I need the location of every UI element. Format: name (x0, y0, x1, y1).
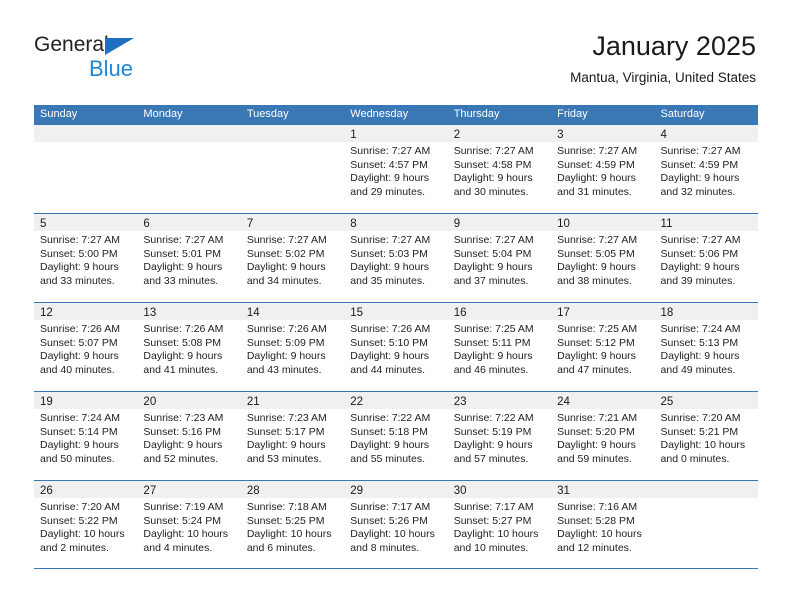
daylight-duration-line1: Daylight: 9 hours (350, 172, 441, 186)
daylight-duration-line1: Daylight: 9 hours (557, 439, 648, 453)
calendar-day-cell[interactable]: 26Sunrise: 7:20 AMSunset: 5:22 PMDayligh… (34, 481, 137, 568)
day-number: 21 (247, 396, 260, 408)
calendar-week-row: 5Sunrise: 7:27 AMSunset: 5:00 PMDaylight… (34, 213, 758, 302)
day-number-band: 15 (344, 303, 447, 320)
sunrise-time: Sunrise: 7:27 AM (247, 234, 338, 248)
sunset-time: Sunset: 5:25 PM (247, 515, 338, 529)
daylight-duration-line1: Daylight: 9 hours (454, 261, 545, 275)
daylight-duration-line1: Daylight: 10 hours (143, 528, 234, 542)
daylight-duration-line2: and 2 minutes. (40, 542, 131, 556)
day-number: 7 (247, 218, 253, 230)
sunset-time: Sunset: 5:02 PM (247, 248, 338, 262)
sunrise-time: Sunrise: 7:19 AM (143, 501, 234, 515)
day-number: 25 (661, 396, 674, 408)
day-number-band: 18 (655, 303, 758, 320)
sunrise-time: Sunrise: 7:27 AM (350, 145, 441, 159)
sunset-time: Sunset: 5:24 PM (143, 515, 234, 529)
day-number-band: 16 (448, 303, 551, 320)
sunset-time: Sunset: 5:04 PM (454, 248, 545, 262)
daylight-duration-line1: Daylight: 9 hours (143, 350, 234, 364)
daylight-duration-line1: Daylight: 10 hours (454, 528, 545, 542)
day-details: Sunrise: 7:25 AMSunset: 5:12 PMDaylight:… (551, 320, 654, 377)
calendar-day-cell[interactable]: 30Sunrise: 7:17 AMSunset: 5:27 PMDayligh… (448, 481, 551, 568)
day-number-band: 10 (551, 214, 654, 231)
calendar-day-cell[interactable]: 15Sunrise: 7:26 AMSunset: 5:10 PMDayligh… (344, 303, 447, 391)
weekday-header-thursday: Thursday (448, 105, 551, 124)
daylight-duration-line2: and 32 minutes. (661, 186, 752, 200)
daylight-duration-line1: Daylight: 9 hours (454, 172, 545, 186)
day-details: Sunrise: 7:26 AMSunset: 5:07 PMDaylight:… (34, 320, 137, 377)
daylight-duration-line1: Daylight: 9 hours (454, 439, 545, 453)
sunset-time: Sunset: 4:58 PM (454, 159, 545, 173)
sunrise-time: Sunrise: 7:23 AM (143, 412, 234, 426)
sunset-time: Sunset: 4:59 PM (661, 159, 752, 173)
sunrise-time: Sunrise: 7:18 AM (247, 501, 338, 515)
day-number: 6 (143, 218, 149, 230)
sunset-time: Sunset: 5:18 PM (350, 426, 441, 440)
daylight-duration-line2: and 40 minutes. (40, 364, 131, 378)
sunset-time: Sunset: 5:06 PM (661, 248, 752, 262)
day-number-band: 24 (551, 392, 654, 409)
daylight-duration-line1: Daylight: 9 hours (350, 261, 441, 275)
daylight-duration-line2: and 44 minutes. (350, 364, 441, 378)
calendar-day-cell[interactable]: 5Sunrise: 7:27 AMSunset: 5:00 PMDaylight… (34, 214, 137, 302)
sunrise-time: Sunrise: 7:22 AM (454, 412, 545, 426)
weekday-header-sunday: Sunday (34, 105, 137, 124)
day-number-band: 28 (241, 481, 344, 498)
daylight-duration-line2: and 12 minutes. (557, 542, 648, 556)
daylight-duration-line2: and 4 minutes. (143, 542, 234, 556)
logo-flag-icon (105, 38, 134, 55)
day-details: Sunrise: 7:21 AMSunset: 5:20 PMDaylight:… (551, 409, 654, 466)
sunrise-time: Sunrise: 7:26 AM (350, 323, 441, 337)
daylight-duration-line2: and 10 minutes. (454, 542, 545, 556)
day-number: 5 (40, 218, 46, 230)
day-number: 18 (661, 307, 674, 319)
day-number-band: 22 (344, 392, 447, 409)
day-number: 30 (454, 485, 467, 497)
sunset-time: Sunset: 5:19 PM (454, 426, 545, 440)
daylight-duration-line2: and 8 minutes. (350, 542, 441, 556)
sunrise-time: Sunrise: 7:17 AM (350, 501, 441, 515)
sunset-time: Sunset: 5:08 PM (143, 337, 234, 351)
calendar-day-cell[interactable]: 14Sunrise: 7:26 AMSunset: 5:09 PMDayligh… (241, 303, 344, 391)
calendar-week-row: 26Sunrise: 7:20 AMSunset: 5:22 PMDayligh… (34, 480, 758, 569)
daylight-duration-line1: Daylight: 9 hours (247, 350, 338, 364)
daylight-duration-line1: Daylight: 9 hours (143, 439, 234, 453)
day-number-band: 13 (137, 303, 240, 320)
daylight-duration-line1: Daylight: 9 hours (557, 350, 648, 364)
calendar-day-cell[interactable]: 7Sunrise: 7:27 AMSunset: 5:02 PMDaylight… (241, 214, 344, 302)
daylight-duration-line2: and 41 minutes. (143, 364, 234, 378)
sunset-time: Sunset: 5:03 PM (350, 248, 441, 262)
calendar-day-cell[interactable]: 8Sunrise: 7:27 AMSunset: 5:03 PMDaylight… (344, 214, 447, 302)
weekday-header-monday: Monday (137, 105, 240, 124)
sunset-time: Sunset: 5:20 PM (557, 426, 648, 440)
page-subtitle-location: Mantua, Virginia, United States (570, 69, 756, 87)
day-number-band: 12 (34, 303, 137, 320)
daylight-duration-line2: and 46 minutes. (454, 364, 545, 378)
calendar-day-cell[interactable]: 29Sunrise: 7:17 AMSunset: 5:26 PMDayligh… (344, 481, 447, 568)
day-number-band: 17 (551, 303, 654, 320)
day-details: Sunrise: 7:18 AMSunset: 5:25 PMDaylight:… (241, 498, 344, 555)
sunset-time: Sunset: 5:28 PM (557, 515, 648, 529)
daylight-duration-line1: Daylight: 9 hours (557, 172, 648, 186)
calendar-day-cell[interactable]: 22Sunrise: 7:22 AMSunset: 5:18 PMDayligh… (344, 392, 447, 480)
day-details: Sunrise: 7:27 AMSunset: 4:57 PMDaylight:… (344, 142, 447, 199)
day-number: 23 (454, 396, 467, 408)
daylight-duration-line2: and 55 minutes. (350, 453, 441, 467)
weekday-header-friday: Friday (551, 105, 654, 124)
day-details: Sunrise: 7:26 AMSunset: 5:09 PMDaylight:… (241, 320, 344, 377)
day-number: 28 (247, 485, 260, 497)
daylight-duration-line2: and 53 minutes. (247, 453, 338, 467)
sunset-time: Sunset: 5:00 PM (40, 248, 131, 262)
day-details: Sunrise: 7:27 AMSunset: 4:59 PMDaylight:… (551, 142, 654, 199)
daylight-duration-line1: Daylight: 9 hours (40, 439, 131, 453)
calendar-day-cell[interactable]: 2Sunrise: 7:27 AMSunset: 4:58 PMDaylight… (448, 125, 551, 213)
sunrise-time: Sunrise: 7:24 AM (661, 323, 752, 337)
sunrise-time: Sunrise: 7:27 AM (143, 234, 234, 248)
day-number-band: 21 (241, 392, 344, 409)
calendar-day-cell[interactable]: 23Sunrise: 7:22 AMSunset: 5:19 PMDayligh… (448, 392, 551, 480)
sunrise-time: Sunrise: 7:27 AM (557, 145, 648, 159)
sunset-time: Sunset: 5:16 PM (143, 426, 234, 440)
daylight-duration-line1: Daylight: 9 hours (247, 261, 338, 275)
day-number: 2 (454, 129, 460, 141)
day-number-band: 7 (241, 214, 344, 231)
day-number: 22 (350, 396, 363, 408)
day-details: Sunrise: 7:27 AMSunset: 4:58 PMDaylight:… (448, 142, 551, 199)
daylight-duration-line2: and 31 minutes. (557, 186, 648, 200)
day-details: Sunrise: 7:27 AMSunset: 5:00 PMDaylight:… (34, 231, 137, 288)
calendar-day-cell[interactable]: 1Sunrise: 7:27 AMSunset: 4:57 PMDaylight… (344, 125, 447, 213)
day-number: 8 (350, 218, 356, 230)
day-details: Sunrise: 7:27 AMSunset: 5:03 PMDaylight:… (344, 231, 447, 288)
calendar-weeks: 1Sunrise: 7:27 AMSunset: 4:57 PMDaylight… (34, 124, 758, 569)
calendar-day-cell[interactable]: 19Sunrise: 7:24 AMSunset: 5:14 PMDayligh… (34, 392, 137, 480)
daylight-duration-line2: and 30 minutes. (454, 186, 545, 200)
daylight-duration-line2: and 39 minutes. (661, 275, 752, 289)
sunset-time: Sunset: 5:14 PM (40, 426, 131, 440)
day-details: Sunrise: 7:19 AMSunset: 5:24 PMDaylight:… (137, 498, 240, 555)
day-details: Sunrise: 7:27 AMSunset: 4:59 PMDaylight:… (655, 142, 758, 199)
day-details: Sunrise: 7:17 AMSunset: 5:26 PMDaylight:… (344, 498, 447, 555)
calendar-day-cell[interactable]: 20Sunrise: 7:23 AMSunset: 5:16 PMDayligh… (137, 392, 240, 480)
page-title: January 2025 (570, 30, 756, 62)
sunrise-time: Sunrise: 7:27 AM (454, 145, 545, 159)
sunset-time: Sunset: 5:11 PM (454, 337, 545, 351)
calendar-week-row: 12Sunrise: 7:26 AMSunset: 5:07 PMDayligh… (34, 302, 758, 391)
sunset-time: Sunset: 5:07 PM (40, 337, 131, 351)
daylight-duration-line1: Daylight: 9 hours (143, 261, 234, 275)
daylight-duration-line2: and 52 minutes. (143, 453, 234, 467)
daylight-duration-line2: and 47 minutes. (557, 364, 648, 378)
calendar-day-cell[interactable]: 28Sunrise: 7:18 AMSunset: 5:25 PMDayligh… (241, 481, 344, 568)
sunset-time: Sunset: 5:12 PM (557, 337, 648, 351)
day-number: 14 (247, 307, 260, 319)
sunrise-time: Sunrise: 7:21 AM (557, 412, 648, 426)
day-number: 24 (557, 396, 570, 408)
day-number-band: 30 (448, 481, 551, 498)
sunrise-time: Sunrise: 7:26 AM (247, 323, 338, 337)
sunset-time: Sunset: 4:59 PM (557, 159, 648, 173)
sunset-time: Sunset: 4:57 PM (350, 159, 441, 173)
day-details: Sunrise: 7:26 AMSunset: 5:10 PMDaylight:… (344, 320, 447, 377)
daylight-duration-line2: and 6 minutes. (247, 542, 338, 556)
day-details: Sunrise: 7:27 AMSunset: 5:06 PMDaylight:… (655, 231, 758, 288)
calendar-page: General Blue January 2025 Mantua, Virgin… (0, 0, 792, 612)
daylight-duration-line1: Daylight: 9 hours (557, 261, 648, 275)
calendar-day-cell[interactable]: 11Sunrise: 7:27 AMSunset: 5:06 PMDayligh… (655, 214, 758, 302)
day-details: Sunrise: 7:20 AMSunset: 5:22 PMDaylight:… (34, 498, 137, 555)
daylight-duration-line1: Daylight: 10 hours (557, 528, 648, 542)
day-details: Sunrise: 7:27 AMSunset: 5:02 PMDaylight:… (241, 231, 344, 288)
day-details: Sunrise: 7:16 AMSunset: 5:28 PMDaylight:… (551, 498, 654, 555)
calendar-day-cell[interactable]: 21Sunrise: 7:23 AMSunset: 5:17 PMDayligh… (241, 392, 344, 480)
day-details: Sunrise: 7:27 AMSunset: 5:04 PMDaylight:… (448, 231, 551, 288)
weekday-header-wednesday: Wednesday (344, 105, 447, 124)
calendar-day-cell[interactable]: 13Sunrise: 7:26 AMSunset: 5:08 PMDayligh… (137, 303, 240, 391)
day-details: Sunrise: 7:17 AMSunset: 5:27 PMDaylight:… (448, 498, 551, 555)
sunrise-time: Sunrise: 7:16 AM (557, 501, 648, 515)
day-number: 16 (454, 307, 467, 319)
daylight-duration-line1: Daylight: 10 hours (247, 528, 338, 542)
calendar-day-cell[interactable]: 27Sunrise: 7:19 AMSunset: 5:24 PMDayligh… (137, 481, 240, 568)
sunrise-time: Sunrise: 7:17 AM (454, 501, 545, 515)
daylight-duration-line2: and 43 minutes. (247, 364, 338, 378)
daylight-duration-line1: Daylight: 10 hours (350, 528, 441, 542)
calendar-day-cell[interactable]: 25Sunrise: 7:20 AMSunset: 5:21 PMDayligh… (655, 392, 758, 480)
day-number-band: 14 (241, 303, 344, 320)
calendar-grid: Sunday Monday Tuesday Wednesday Thursday… (34, 105, 758, 569)
day-number: 27 (143, 485, 156, 497)
day-number: 9 (454, 218, 460, 230)
day-number-band: 31 (551, 481, 654, 498)
daylight-duration-line2: and 34 minutes. (247, 275, 338, 289)
weekday-header-tuesday: Tuesday (241, 105, 344, 124)
daylight-duration-line1: Daylight: 10 hours (661, 439, 752, 453)
sunrise-time: Sunrise: 7:27 AM (661, 145, 752, 159)
daylight-duration-line2: and 38 minutes. (557, 275, 648, 289)
day-details: Sunrise: 7:25 AMSunset: 5:11 PMDaylight:… (448, 320, 551, 377)
sunrise-time: Sunrise: 7:25 AM (454, 323, 545, 337)
daylight-duration-line2: and 33 minutes. (143, 275, 234, 289)
calendar-day-cell[interactable]: 31Sunrise: 7:16 AMSunset: 5:28 PMDayligh… (551, 481, 654, 568)
daylight-duration-line1: Daylight: 9 hours (40, 261, 131, 275)
daylight-duration-line2: and 59 minutes. (557, 453, 648, 467)
day-number-band: 4 (655, 125, 758, 142)
day-details: Sunrise: 7:27 AMSunset: 5:01 PMDaylight:… (137, 231, 240, 288)
sunrise-time: Sunrise: 7:27 AM (557, 234, 648, 248)
day-number: 20 (143, 396, 156, 408)
day-number-band: 5 (34, 214, 137, 231)
sunset-time: Sunset: 5:10 PM (350, 337, 441, 351)
sunset-time: Sunset: 5:17 PM (247, 426, 338, 440)
weekday-header-row: Sunday Monday Tuesday Wednesday Thursday… (34, 105, 758, 124)
sunrise-time: Sunrise: 7:25 AM (557, 323, 648, 337)
sunrise-time: Sunrise: 7:27 AM (661, 234, 752, 248)
general-blue-logo[interactable]: General Blue (34, 33, 234, 89)
day-number: 1 (350, 129, 356, 141)
daylight-duration-line1: Daylight: 9 hours (40, 350, 131, 364)
day-details: Sunrise: 7:22 AMSunset: 5:18 PMDaylight:… (344, 409, 447, 466)
sunrise-time: Sunrise: 7:20 AM (661, 412, 752, 426)
day-number-band: 25 (655, 392, 758, 409)
day-number-band: 26 (34, 481, 137, 498)
day-number-band: 20 (137, 392, 240, 409)
day-number: 17 (557, 307, 570, 319)
calendar-day-cell[interactable]: 4Sunrise: 7:27 AMSunset: 4:59 PMDaylight… (655, 125, 758, 213)
day-number: 31 (557, 485, 570, 497)
daylight-duration-line1: Daylight: 9 hours (350, 439, 441, 453)
day-number-band: 29 (344, 481, 447, 498)
day-details: Sunrise: 7:20 AMSunset: 5:21 PMDaylight:… (655, 409, 758, 466)
calendar-day-cell[interactable]: 9Sunrise: 7:27 AMSunset: 5:04 PMDaylight… (448, 214, 551, 302)
day-number: 29 (350, 485, 363, 497)
sunset-time: Sunset: 5:27 PM (454, 515, 545, 529)
day-number-band: 1 (344, 125, 447, 142)
daylight-duration-line2: and 0 minutes. (661, 453, 752, 467)
sunrise-time: Sunrise: 7:26 AM (40, 323, 131, 337)
sunrise-time: Sunrise: 7:27 AM (454, 234, 545, 248)
daylight-duration-line1: Daylight: 9 hours (661, 350, 752, 364)
day-details: Sunrise: 7:22 AMSunset: 5:19 PMDaylight:… (448, 409, 551, 466)
sunset-time: Sunset: 5:22 PM (40, 515, 131, 529)
day-details: Sunrise: 7:24 AMSunset: 5:13 PMDaylight:… (655, 320, 758, 377)
sunset-time: Sunset: 5:05 PM (557, 248, 648, 262)
calendar-day-cell[interactable]: 6Sunrise: 7:27 AMSunset: 5:01 PMDaylight… (137, 214, 240, 302)
day-details: Sunrise: 7:23 AMSunset: 5:16 PMDaylight:… (137, 409, 240, 466)
day-details: Sunrise: 7:23 AMSunset: 5:17 PMDaylight:… (241, 409, 344, 466)
daylight-duration-line1: Daylight: 9 hours (350, 350, 441, 364)
day-number-band (137, 125, 240, 142)
sunrise-time: Sunrise: 7:26 AM (143, 323, 234, 337)
calendar-week-row: 1Sunrise: 7:27 AMSunset: 4:57 PMDaylight… (34, 124, 758, 213)
day-number: 11 (661, 218, 673, 230)
day-number: 19 (40, 396, 53, 408)
day-number: 4 (661, 129, 667, 141)
sunrise-time: Sunrise: 7:22 AM (350, 412, 441, 426)
page-header: General Blue January 2025 Mantua, Virgin… (0, 0, 792, 100)
calendar-day-cell-empty (137, 125, 240, 213)
day-number-band: 8 (344, 214, 447, 231)
day-details: Sunrise: 7:27 AMSunset: 5:05 PMDaylight:… (551, 231, 654, 288)
calendar-day-cell[interactable]: 12Sunrise: 7:26 AMSunset: 5:07 PMDayligh… (34, 303, 137, 391)
day-number: 15 (350, 307, 363, 319)
daylight-duration-line1: Daylight: 9 hours (247, 439, 338, 453)
daylight-duration-line1: Daylight: 9 hours (661, 261, 752, 275)
sunset-time: Sunset: 5:13 PM (661, 337, 752, 351)
day-number-band (241, 125, 344, 142)
sunrise-time: Sunrise: 7:24 AM (40, 412, 131, 426)
daylight-duration-line2: and 29 minutes. (350, 186, 441, 200)
sunrise-time: Sunrise: 7:27 AM (350, 234, 441, 248)
daylight-duration-line2: and 49 minutes. (661, 364, 752, 378)
day-number: 3 (557, 129, 563, 141)
calendar-day-cell[interactable]: 17Sunrise: 7:25 AMSunset: 5:12 PMDayligh… (551, 303, 654, 391)
calendar-day-cell[interactable]: 16Sunrise: 7:25 AMSunset: 5:11 PMDayligh… (448, 303, 551, 391)
calendar-day-cell[interactable]: 18Sunrise: 7:24 AMSunset: 5:13 PMDayligh… (655, 303, 758, 391)
day-number-band: 6 (137, 214, 240, 231)
sunset-time: Sunset: 5:01 PM (143, 248, 234, 262)
daylight-duration-line1: Daylight: 9 hours (454, 350, 545, 364)
daylight-duration-line2: and 37 minutes. (454, 275, 545, 289)
day-number: 10 (557, 218, 570, 230)
sunrise-time: Sunrise: 7:20 AM (40, 501, 131, 515)
day-number-band: 23 (448, 392, 551, 409)
calendar-day-cell-empty (34, 125, 137, 213)
daylight-duration-line2: and 50 minutes. (40, 453, 131, 467)
day-number-band: 9 (448, 214, 551, 231)
day-number-band: 27 (137, 481, 240, 498)
calendar-day-cell[interactable]: 10Sunrise: 7:27 AMSunset: 5:05 PMDayligh… (551, 214, 654, 302)
calendar-day-cell-empty (655, 481, 758, 568)
day-details: Sunrise: 7:24 AMSunset: 5:14 PMDaylight:… (34, 409, 137, 466)
daylight-duration-line2: and 33 minutes. (40, 275, 131, 289)
logo-text-blue: Blue (89, 56, 133, 81)
day-number-band: 2 (448, 125, 551, 142)
daylight-duration-line2: and 35 minutes. (350, 275, 441, 289)
day-number-band: 3 (551, 125, 654, 142)
day-number-band (34, 125, 137, 142)
calendar-week-row: 19Sunrise: 7:24 AMSunset: 5:14 PMDayligh… (34, 391, 758, 480)
title-block: January 2025 Mantua, Virginia, United St… (570, 30, 756, 87)
day-number: 26 (40, 485, 53, 497)
sunrise-time: Sunrise: 7:27 AM (40, 234, 131, 248)
daylight-duration-line1: Daylight: 9 hours (661, 172, 752, 186)
daylight-duration-line1: Daylight: 10 hours (40, 528, 131, 542)
calendar-day-cell[interactable]: 3Sunrise: 7:27 AMSunset: 4:59 PMDaylight… (551, 125, 654, 213)
daylight-duration-line2: and 57 minutes. (454, 453, 545, 467)
calendar-day-cell-empty (241, 125, 344, 213)
sunset-time: Sunset: 5:26 PM (350, 515, 441, 529)
day-details: Sunrise: 7:26 AMSunset: 5:08 PMDaylight:… (137, 320, 240, 377)
day-number: 13 (143, 307, 156, 319)
calendar-day-cell[interactable]: 24Sunrise: 7:21 AMSunset: 5:20 PMDayligh… (551, 392, 654, 480)
sunset-time: Sunset: 5:21 PM (661, 426, 752, 440)
day-number-band: 19 (34, 392, 137, 409)
day-number-band: 11 (655, 214, 758, 231)
sunset-time: Sunset: 5:09 PM (247, 337, 338, 351)
sunrise-time: Sunrise: 7:23 AM (247, 412, 338, 426)
day-number-band (655, 481, 758, 498)
day-number: 12 (40, 307, 53, 319)
weekday-header-saturday: Saturday (655, 105, 758, 124)
logo-text-general: General (34, 33, 109, 57)
